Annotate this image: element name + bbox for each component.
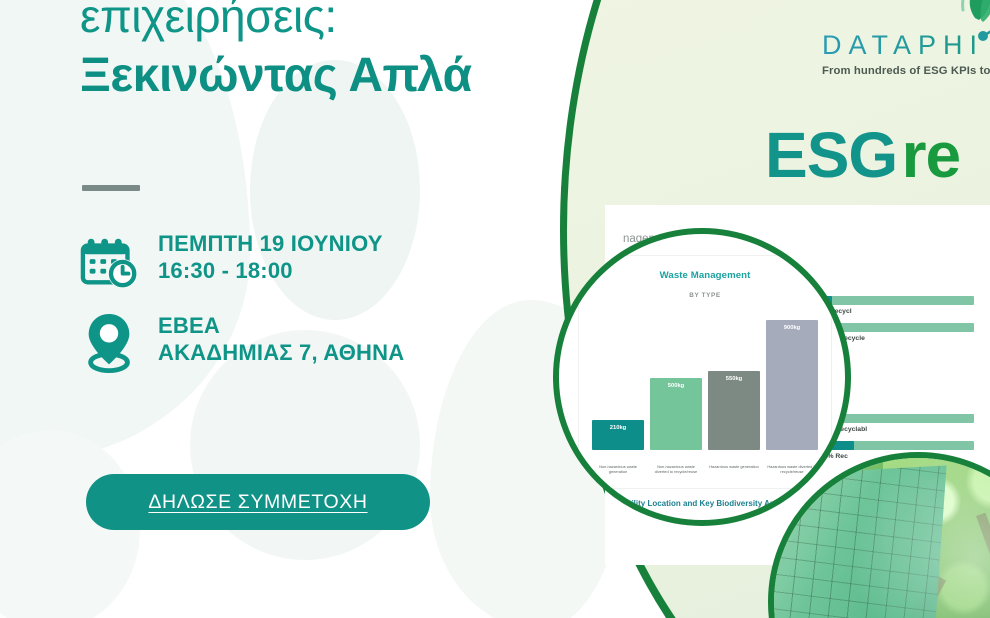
chart-category-label: Non-hazardous waste generation: [592, 464, 644, 474]
chart-category-label: Hazardous waste generation: [708, 464, 760, 474]
chart-bar: 550kg: [708, 371, 760, 450]
event-location-text: ΕΒΕΑ ΑΚΑΔΗΜΙΑΣ 7, ΑΘΗΝΑ: [158, 310, 404, 366]
map-pin-icon-wrap: [80, 310, 158, 374]
chart-bar-value: 550kg: [708, 376, 760, 382]
event-address: ΑΚΑΔΗΜΙΑΣ 7, ΑΘΗΝΑ: [158, 339, 404, 366]
chart-bar-value: 900kg: [766, 325, 818, 331]
poster-canvas: DATAPHI From hundreds of ESG KPIs to pow…: [0, 0, 990, 618]
progress-track: [818, 296, 974, 305]
chart-bar-group: 210kg: [592, 420, 644, 450]
headline-block: επιχειρήσεις: Ξεκινώντας Απλά: [80, 0, 680, 106]
leaf-network-icon: [945, 0, 990, 46]
chart-bar-group: 500kg: [650, 378, 702, 450]
waste-chart-card: Waste Management BY TYPE 210kg 500kg 550…: [579, 256, 831, 488]
esg-title-part2: re: [902, 119, 961, 191]
event-date-text: ΠΕΜΠΤΗ 19 ΙΟΥΝΙΟΥ 16:30 - 18:00: [158, 228, 383, 284]
map-pin-icon: [80, 312, 138, 374]
chart-title: Waste Management: [579, 270, 831, 281]
chart-category-label: Non-hazardous waste diverted to recycle/…: [650, 464, 702, 474]
event-location-row: ΕΒΕΑ ΑΚΑΔΗΜΙΑΣ 7, ΑΘΗΝΑ: [80, 310, 404, 374]
event-date-row: ΠΕΜΠΤΗ 19 ΙΟΥΝΙΟΥ 16:30 - 18:00: [80, 228, 404, 292]
headline-line-2: Ξεκινώντας Απλά: [80, 46, 680, 106]
esg-title-part1: ESG: [765, 119, 897, 191]
calendar-clock-icon: [80, 230, 142, 292]
event-date: ΠΕΜΠΤΗ 19 ΙΟΥΝΙΟΥ: [158, 230, 383, 257]
left-content: επιχειρήσεις: Ξεκινώντας Απλά: [0, 0, 560, 618]
nature-photo-circle: [768, 452, 990, 618]
calendar-clock-icon-wrap: [80, 228, 158, 292]
chart-bar-group: 900kg: [766, 320, 818, 450]
progress-item: 4% Recycl: [818, 296, 974, 315]
register-button-label: ΔΗΛΩΣΕ ΣΥΜΜΕΤΟΧΗ: [148, 491, 367, 514]
chart-bar: 900kg: [766, 320, 818, 450]
chart-bar-value: 210kg: [592, 425, 644, 431]
headline-divider: [82, 185, 140, 191]
event-venue: ΕΒΕΑ: [158, 312, 404, 339]
brand-tagline: From hundreds of ESG KPIs to pow: [822, 65, 990, 77]
chart-bar-value: 500kg: [650, 383, 702, 389]
chart-bar: 210kg: [592, 420, 644, 450]
progress-track: [818, 441, 974, 450]
photo-sun-glow: [774, 458, 990, 618]
event-time: 16:30 - 18:00: [158, 257, 383, 284]
chart-bar-group: 550kg: [708, 371, 760, 450]
event-details: ΠΕΜΠΤΗ 19 ΙΟΥΝΙΟΥ 16:30 - 18:00 ΕΒΕΑ ΑΚΑ…: [80, 228, 404, 392]
progress-label: 4% Recycl: [818, 308, 974, 315]
chart-subtitle: BY TYPE: [579, 292, 831, 299]
chart-plot-area: 210kg 500kg 550kg 900kg: [589, 316, 821, 450]
esg-report-title: ESG re: [765, 118, 960, 192]
register-button[interactable]: ΔΗΛΩΣΕ ΣΥΜΜΕΤΟΧΗ: [86, 474, 430, 530]
headline-line-1: επιχειρήσεις:: [80, 0, 680, 44]
chart-bar: 500kg: [650, 378, 702, 450]
